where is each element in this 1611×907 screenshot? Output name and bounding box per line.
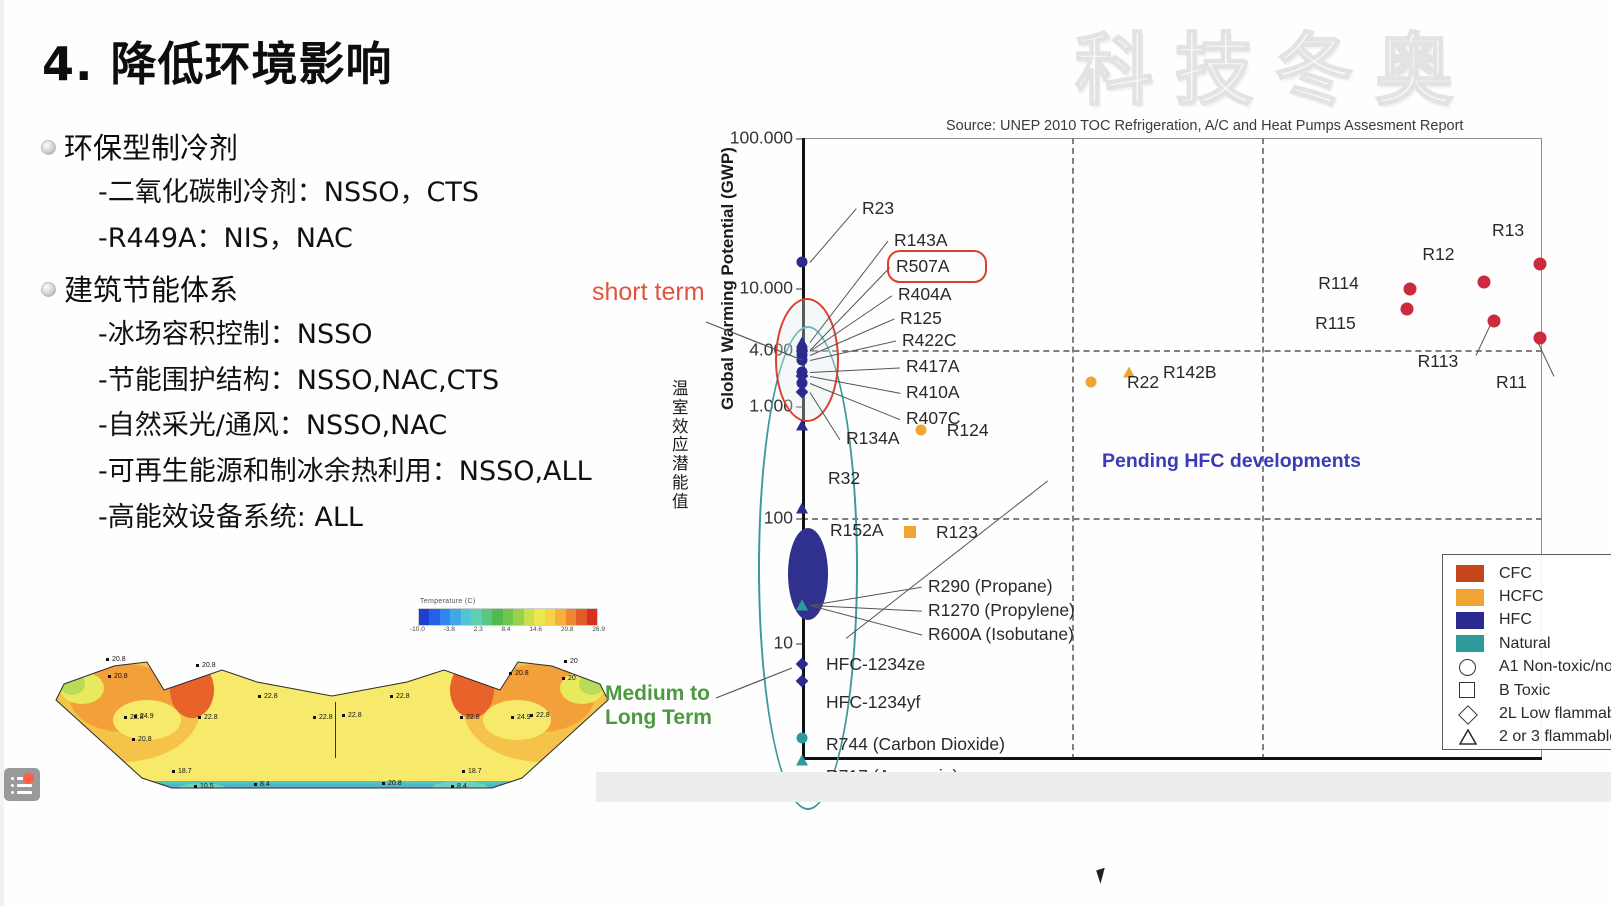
colorbar-segment — [566, 609, 576, 625]
data-point-label: R13 — [1492, 220, 1524, 241]
colorbar-segment — [492, 609, 502, 625]
legend-shape-triangle-icon — [1456, 728, 1484, 747]
colorbar-tick-labels: -10.0-3.82.38.414.620.826.9 — [410, 626, 605, 633]
colorbar-tick: 2.3 — [474, 626, 483, 633]
annotation-pending-hfc: Pending HFC developments — [1102, 450, 1361, 473]
data-point — [1086, 377, 1097, 388]
thermal-value-label: 22.8 — [130, 714, 144, 721]
data-point-label: R152A — [830, 520, 884, 541]
shape-glyph — [1459, 729, 1475, 743]
bullet-item-l2: -可再生能源和制冰余热利用：NSSO,ALL — [36, 454, 656, 491]
r507a-highlight-box — [887, 250, 987, 283]
thermal-value-label: 22.8 — [264, 693, 278, 700]
bullet-item-l2: -二氧化碳制冷剂：NSSO，CTS — [36, 175, 656, 212]
data-point — [1401, 302, 1414, 315]
data-point-label: R23 — [862, 198, 894, 219]
colorbar-title: Temperature (C) — [420, 598, 475, 605]
data-point — [904, 526, 916, 538]
thermal-value-label: 20 — [570, 658, 578, 665]
data-point-label: R134A — [846, 428, 900, 449]
legend-color-swatch — [1456, 589, 1484, 606]
legend-shape-diamond-icon — [1456, 705, 1484, 724]
data-point-label: R422C — [902, 330, 956, 351]
data-point-label: R113 — [1418, 351, 1459, 372]
thermal-value-label: 8.4 — [457, 783, 467, 790]
data-point — [797, 257, 808, 268]
colorbar-segment — [450, 609, 460, 625]
legend-shape-square-icon — [1456, 681, 1484, 700]
legend-row: 2L Low flammability — [1443, 702, 1611, 725]
data-point-label: R114 — [1318, 273, 1359, 294]
thermal-value-label: 24.9 — [517, 714, 531, 721]
thermal-value-label: 22.8 — [319, 714, 333, 721]
leader-line — [810, 209, 857, 263]
colorbar-tick: 14.6 — [529, 626, 542, 633]
bullet-item-l2: -高能效设备系统: ALL — [36, 500, 656, 537]
page-title: 4. 降低环境影响 — [42, 28, 393, 94]
data-point-label: R115 — [1315, 313, 1356, 334]
bullet-text: 建筑节能体系 — [64, 273, 238, 307]
list-line-icon — [17, 784, 32, 787]
bullet-item-l2: -R449A：NIS，NAC — [36, 221, 656, 258]
data-point — [797, 733, 808, 744]
colorbar-segment — [471, 609, 481, 625]
thermal-contour-figure: Temperature (C) -10.0-3.82.38.414.620.82… — [52, 590, 612, 820]
bullet-text: -高能效设备系统: ALL — [98, 502, 363, 533]
gwp-odp-chart: Source: UNEP 2010 TOC Refrigeration, A/C… — [596, 110, 1611, 810]
thermal-value-label: 20.8 — [112, 656, 126, 663]
notification-badge-icon — [23, 773, 34, 784]
thermal-value-label: 18.7 — [468, 768, 482, 775]
thermal-value-label: 20.8 — [515, 670, 529, 677]
data-point — [796, 502, 808, 513]
colorbar-segment — [524, 609, 534, 625]
data-point-label: R11 — [1496, 372, 1527, 393]
data-point — [1404, 282, 1417, 295]
colorbar-segment — [576, 609, 586, 625]
colorbar-segment — [419, 609, 429, 625]
y-axis-tick-label: 100.000 — [730, 128, 793, 149]
bullet-text: -自然采光/通风：NSSO,NAC — [98, 410, 447, 441]
bullet-item-l2: -自然采光/通风：NSSO,NAC — [36, 408, 656, 445]
annotation-short-term: short term — [592, 278, 705, 307]
colorbar-segment — [429, 609, 439, 625]
data-point — [796, 420, 808, 431]
data-point-label: R142B — [1163, 362, 1217, 383]
colorbar-segment — [503, 609, 513, 625]
colorbar-tick: -3.8 — [444, 626, 455, 633]
slide-canvas: 科技冬奥 4. 降低环境影响 环保型制冷剂 -二氧化碳制冷剂：NSSO，CTS … — [0, 0, 1611, 907]
data-point-label: HFC-1234ze — [826, 654, 925, 675]
gridline-vertical — [1262, 138, 1264, 760]
annotation-medium-long-term: Medium to Long Term — [605, 682, 725, 729]
colorbar-segment — [482, 609, 492, 625]
data-point — [797, 355, 808, 366]
legend-color-swatch — [1456, 612, 1484, 629]
shape-glyph — [1459, 682, 1475, 698]
thermal-value-label: 20 — [568, 675, 576, 682]
chart-legend: CFCHCFCHFCNaturalA1 Non-toxic/non-flamma… — [1442, 554, 1611, 750]
data-point-label: R143A — [894, 230, 948, 251]
list-line-icon — [17, 791, 32, 794]
plot-top-border — [802, 138, 1542, 139]
colorbar-segment — [461, 609, 471, 625]
legend-row: HCFC — [1443, 585, 1611, 608]
bullet-text: -可再生能源和制冰余热利用：NSSO,ALL — [98, 456, 592, 487]
bullet-item-l1: 建筑节能体系 — [36, 270, 656, 311]
thermal-value-label: 22.8 — [348, 712, 362, 719]
data-point — [1534, 332, 1547, 345]
bullet-text: -R449A：NIS，NAC — [98, 223, 353, 254]
leader-line — [810, 241, 889, 343]
data-point-label: R404A — [898, 284, 952, 305]
legend-shape-circle-icon — [1456, 658, 1484, 677]
temperature-colorbar — [418, 608, 598, 626]
y-axis-tick-label: 10.000 — [739, 278, 793, 299]
legend-row: 2 or 3 flammable — [1443, 726, 1611, 749]
colorbar-segment — [513, 609, 523, 625]
bullet-text: 环保型制冷剂 — [64, 131, 238, 165]
legend-label: B Toxic — [1499, 682, 1550, 700]
slide-list-button[interactable] — [4, 768, 40, 801]
colorbar-segment — [440, 609, 450, 625]
thermal-value-label: 10.5 — [200, 783, 214, 790]
thermal-value-label: 20.8 — [114, 673, 128, 680]
x-axis-line — [802, 757, 1542, 760]
tick-mark — [796, 288, 803, 290]
bullet-item-l2: -节能围护结构：NSSO,NAC,CTS — [36, 363, 656, 400]
gridline-horizontal — [802, 518, 1542, 520]
list-bullet-icon — [11, 777, 14, 780]
data-point-label: R417A — [906, 356, 960, 377]
colorbar-tick: 8.4 — [502, 626, 511, 633]
legend-row: CFC — [1443, 562, 1611, 585]
y-axis-label-cn: 温室效应潜能值 — [672, 380, 691, 512]
y-axis-label: Global Warming Potential (GWP) — [718, 147, 738, 410]
mouse-cursor-icon — [1096, 866, 1114, 884]
legend-label: HCFC — [1499, 588, 1543, 606]
data-point-label: R123 — [936, 522, 978, 543]
shape-glyph — [1458, 705, 1478, 725]
colorbar-tick: 20.8 — [561, 626, 574, 633]
thermal-value-label: 8.4 — [260, 781, 270, 788]
bullet-list: 环保型制冷剂 -二氧化碳制冷剂：NSSO，CTS -R449A：NIS，NAC … — [36, 128, 656, 545]
data-point-label: R32 — [828, 468, 860, 489]
data-point-label: R22 — [1127, 372, 1159, 393]
bullet-text: -节能围护结构：NSSO,NAC,CTS — [98, 365, 499, 396]
thermal-value-label: 20.8 — [138, 736, 152, 743]
legend-label: HFC — [1499, 611, 1532, 629]
list-bullet-icon — [11, 784, 14, 787]
data-point-label: R744 (Carbon Dioxide) — [826, 734, 1005, 755]
data-point — [1478, 276, 1491, 289]
shape-glyph — [1459, 659, 1476, 676]
data-point — [796, 600, 808, 611]
colorbar-segment — [545, 609, 555, 625]
legend-row: HFC — [1443, 609, 1611, 632]
bullet-text: -冰场容积控制：NSSO — [98, 319, 372, 350]
data-point-label: R12 — [1422, 244, 1454, 265]
bullet-dot-icon — [41, 282, 56, 297]
legend-row: Natural — [1443, 632, 1611, 655]
legend-row: B Toxic — [1443, 679, 1611, 702]
legend-label: 2L Low flammability — [1499, 705, 1611, 723]
colorbar-segment — [534, 609, 544, 625]
colorbar-tick: -10.0 — [410, 626, 425, 633]
data-point-label: R1270 (Propylene) — [928, 600, 1075, 621]
leader-line — [1537, 341, 1555, 377]
watermark-text: 科技冬奥 — [1075, 8, 1475, 120]
plot-area: 100.00010.0004.0001.000100100 0,050,101,… — [802, 138, 1542, 760]
data-point-label: R125 — [900, 308, 942, 329]
data-point — [1534, 258, 1547, 271]
legend-row: A1 Non-toxic/non-flammable — [1443, 656, 1611, 679]
legend-color-swatch — [1456, 565, 1484, 582]
legend-label: 2 or 3 flammable — [1499, 728, 1611, 746]
chart-source-note: Source: UNEP 2010 TOC Refrigeration, A/C… — [946, 118, 1463, 134]
thermal-value-label: 20.8 — [388, 780, 402, 787]
bullet-item-l1: 环保型制冷剂 — [36, 128, 656, 169]
data-point — [796, 755, 808, 766]
data-point-label: R124 — [947, 420, 989, 441]
thermal-value-label: 22.8 — [536, 712, 550, 719]
legend-color-swatch — [1456, 635, 1484, 652]
bullet-text: -二氧化碳制冷剂：NSSO，CTS — [98, 177, 479, 208]
section-divider-line — [335, 702, 336, 758]
gridline-vertical — [1072, 138, 1074, 760]
legend-label: CFC — [1499, 565, 1532, 583]
data-point-label: HFC-1234yf — [826, 692, 920, 713]
legend-label: A1 Non-toxic/non-flammable — [1499, 658, 1611, 676]
bullet-item-l2: -冰场容积控制：NSSO — [36, 317, 656, 354]
data-point — [1487, 315, 1500, 328]
tick-mark — [796, 138, 803, 140]
data-point-label: R290 (Propane) — [928, 576, 1053, 597]
thermal-value-label: 22.8 — [466, 714, 480, 721]
bullet-dot-icon — [41, 140, 56, 155]
legend-label: Natural — [1499, 635, 1551, 653]
data-point-label: R600A (Isobutane) — [928, 624, 1074, 645]
colorbar-segment — [555, 609, 565, 625]
data-point-label: R410A — [906, 382, 960, 403]
thermal-value-label: 20.8 — [202, 662, 216, 669]
list-bullet-icon — [11, 791, 14, 794]
thermal-value-label: 18.7 — [178, 768, 192, 775]
bottom-strip — [596, 772, 1611, 802]
thermal-value-label: 22.8 — [396, 693, 410, 700]
thermal-value-label: 22.8 — [204, 714, 218, 721]
